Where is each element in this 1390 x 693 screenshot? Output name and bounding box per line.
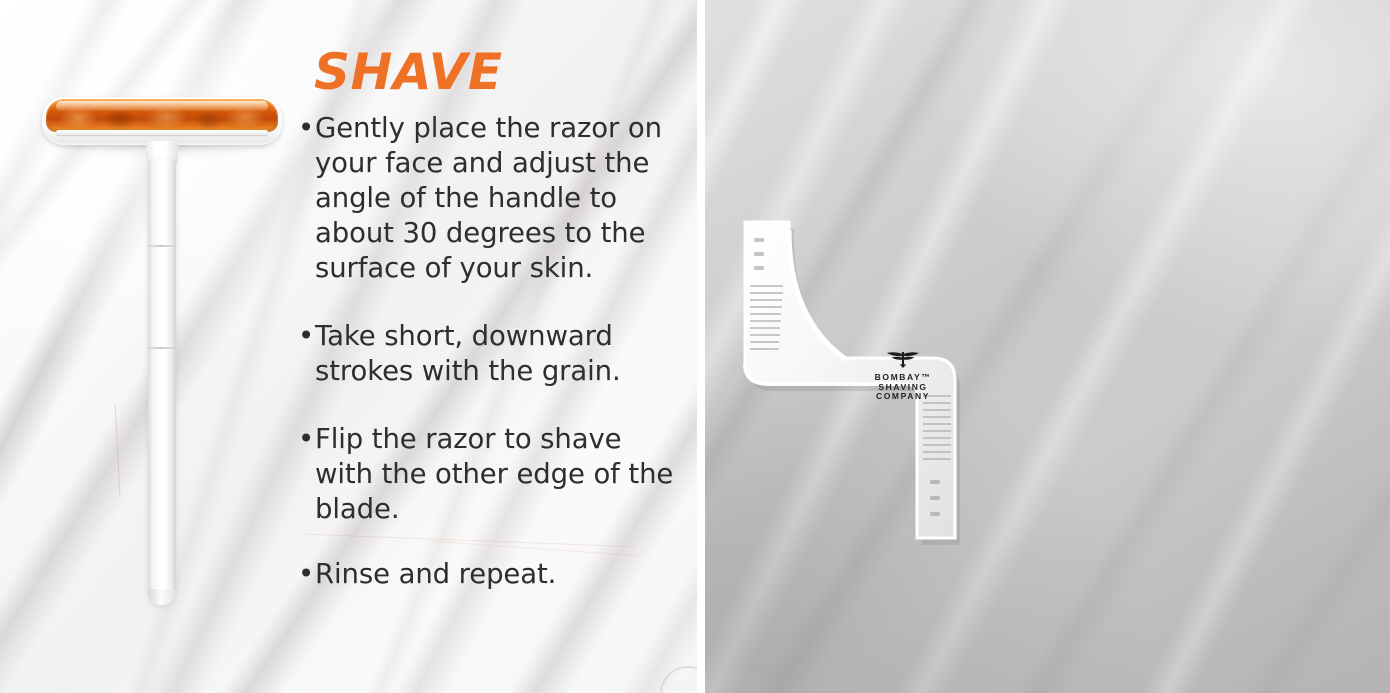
brand-logo: BOMBAY™ SHAVING COMPANY — [863, 350, 943, 401]
panel-shave: SHAVE • Gently place the razor on your f… — [0, 0, 697, 693]
shave-bullet-list: • Gently place the razor on your face an… — [298, 111, 680, 592]
razor-head — [42, 97, 282, 145]
razor-handle-seam — [148, 347, 176, 349]
brand-line-2: SHAVING — [863, 383, 943, 392]
razor-amber-highlight — [56, 101, 268, 111]
razor-handle — [148, 159, 176, 605]
list-item-text: Take short, downward strokes with the gr… — [315, 320, 621, 387]
razor-amber-cap — [46, 99, 278, 132]
list-spacer — [298, 286, 680, 319]
bullet-dot-icon: • — [298, 319, 314, 354]
wings-emblem-icon — [886, 350, 920, 368]
list-item-text: Gently place the razor on your face and … — [315, 112, 662, 284]
product-image-styling-tool: BOMBAY™ SHAVING COMPANY — [727, 208, 1009, 553]
razor-head-lip — [56, 130, 268, 135]
panel-divider — [697, 0, 705, 693]
list-spacer — [298, 527, 680, 557]
bullet-dot-icon: • — [298, 111, 314, 146]
list-item: • Gently place the razor on your face an… — [298, 111, 680, 286]
bullet-dot-icon: • — [298, 557, 314, 592]
bullet-dot-icon: • — [298, 422, 314, 457]
brand-line-1: BOMBAY™ — [863, 373, 943, 382]
list-item-text: Rinse and repeat. — [315, 558, 556, 590]
razor-handle-tip — [148, 589, 176, 605]
list-item: • Flip the razor to shave with the other… — [298, 422, 680, 527]
list-item: • Rinse and repeat. — [298, 557, 680, 592]
list-item: • Take short, downward strokes with the … — [298, 319, 680, 389]
instruction-board: SHAVE • Gently place the razor on your f… — [0, 0, 1390, 693]
product-image-razor — [42, 97, 282, 609]
razor-handle-seam — [148, 245, 176, 247]
panel-style: BOMBAY™ SHAVING COMPANY STYLE • Place th… — [705, 0, 1390, 693]
brand-line-3: COMPANY — [863, 392, 943, 401]
list-spacer — [298, 389, 680, 422]
page-title-shave: SHAVE — [314, 47, 680, 97]
shave-text-column: SHAVE • Gently place the razor on your f… — [298, 47, 680, 592]
list-item-text: Flip the razor to shave with the other e… — [315, 423, 673, 525]
